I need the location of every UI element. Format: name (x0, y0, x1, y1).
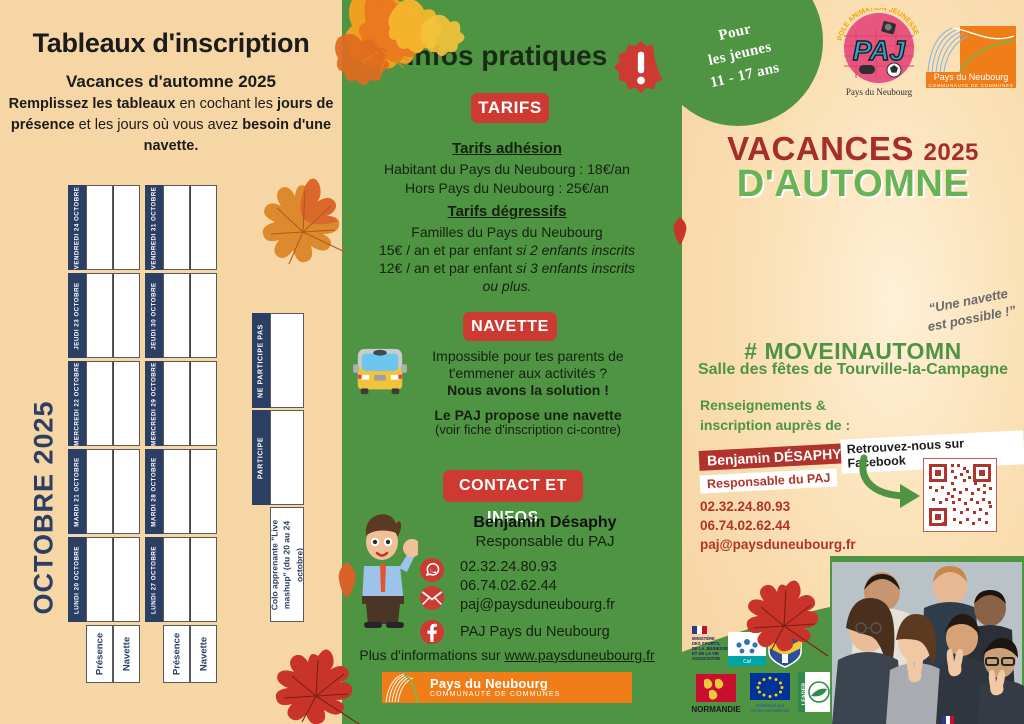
tarifs-line2-prefix: 15€ / an et par enfant (379, 242, 516, 258)
presence-checkbox-cell[interactable] (163, 449, 190, 534)
day-header-label: MERCREDI 29 OCTOBRE (151, 362, 158, 446)
presence-checkbox-cell[interactable] (86, 361, 113, 446)
right-contact-phone1: 02.32.24.80.93 (700, 497, 856, 516)
navette-line5: (voir fiche d'inscription ci-contre) (390, 422, 666, 437)
left-instruction: Remplissez les tableaux en cochant les j… (8, 94, 334, 157)
pdn-swoosh-icon (382, 672, 422, 703)
tarifs-degressifs-line3: 12€ / an et par enfant si 3 enfants insc… (342, 259, 672, 278)
navette-checkbox-cell[interactable] (113, 537, 140, 622)
colo-footer-label: Colo apprenante "Live mashup" (du 20 au … (270, 509, 304, 621)
registration-info-line2: inscription auprès de : (700, 415, 900, 435)
presence-checkbox-cell[interactable] (163, 185, 190, 270)
day-header-label: MARDI 21 OCTOBRE (74, 457, 81, 526)
inscription-table-week2[interactable]: VENDREDI 31 OCTOBREJEUDI 30 OCTOBREMERCR… (145, 185, 217, 683)
table-row[interactable]: JEUDI 23 OCTOBRE (68, 273, 140, 358)
tarifs-degressifs-line1: Familles du Pays du Neubourg (342, 223, 672, 242)
headline-year: 2025 (924, 139, 979, 166)
navette-checkbox-cell[interactable] (190, 537, 217, 622)
departement-eure-logo (768, 628, 802, 668)
day-header-label: VENDREDI 31 OCTOBRE (151, 186, 158, 269)
presence-checkbox-cell[interactable] (163, 273, 190, 358)
day-header: MERCREDI 29 OCTOBRE (145, 361, 163, 446)
contact-facebook: PAJ Pays du Neubourg (460, 624, 610, 640)
caf-eure-logo: Caf (728, 632, 766, 666)
right-contact-email: paj@paysduneubourg.fr (700, 535, 856, 554)
pays-du-neubourg-footer-logo: Pays du Neubourg COMMUNAUTÉ DE COMMUNES (382, 672, 632, 703)
table-row[interactable]: MERCREDI 22 OCTOBRE (68, 361, 140, 446)
day-header: VENDREDI 24 OCTOBRE (68, 185, 86, 270)
poster-canvas: Tableaux d'inscription Vacances d'automn… (0, 0, 1024, 724)
day-header-label: MERCREDI 22 OCTOBRE (74, 362, 81, 446)
pdn-footer-text: Pays du Neubourg COMMUNAUTÉ DE COMMUNES (422, 677, 560, 698)
column-label-text: Présence (171, 633, 182, 675)
navette-line3: Nous avons la solution ! (390, 381, 666, 400)
colo-row-ne-participe-pas[interactable]: NE PARTICIPE PAS (252, 313, 304, 408)
tarifs-adhesion-line1: Habitant du Pays du Neubourg : 18€/an (342, 160, 672, 179)
colo-header-ne-participe-pas: NE PARTICIPE PAS (252, 313, 270, 408)
tarifs-adhesion-line2: Hors Pays du Neubourg : 25€/an (342, 179, 672, 198)
paj-logo-sub: Pays du Neubourg (846, 87, 913, 97)
paj-logo: PAJ POLE ANIMATION JEUNESSE Pays du Neub… (826, 8, 932, 100)
svg-text:Caf: Caf (743, 659, 751, 665)
contact-email: paj@paysduneubourg.fr (460, 597, 615, 613)
contact-badge: CONTACT ET INFOS (443, 470, 583, 502)
tarifs-line2-italic: si 2 enfants inscrits (516, 242, 635, 258)
contact-role: Responsable du PAJ (420, 533, 670, 550)
day-header-label: MARDI 28 OCTOBRE (151, 457, 158, 526)
tarifs-line3-prefix: 12€ / an et par enfant (379, 260, 516, 276)
table-row[interactable]: MERCREDI 29 OCTOBRE (145, 361, 217, 446)
paj-logo-main: PAJ (853, 35, 907, 66)
more-info-url[interactable]: www.paysduneubourg.fr (504, 647, 654, 663)
page-title: Tableaux d'inscription (0, 28, 342, 59)
day-header: VENDREDI 31 OCTOBRE (145, 185, 163, 270)
navette-checkbox-cell[interactable] (113, 361, 140, 446)
pdn-footer-line1: Pays du Neubourg (430, 677, 560, 691)
person-waving-icon (352, 500, 418, 628)
pdn-header-line2: COMMUNAUTÉ DE COMMUNES (928, 82, 1013, 88)
tarifs-adhesion-title: Tarifs adhésion (342, 140, 672, 157)
table-row[interactable]: VENDREDI 24 OCTOBRE (68, 185, 140, 270)
colo-row-participe[interactable]: PARTICIPE (252, 410, 304, 505)
navette-checkbox-cell[interactable] (190, 273, 217, 358)
presence-checkbox-cell[interactable] (86, 449, 113, 534)
left-subtitle: Vacances d'automne 2025 (0, 72, 342, 92)
tarifs-degressifs-line2: 15€ / an et par enfant si 2 enfants insc… (342, 241, 672, 260)
navette-checkbox-cell[interactable] (190, 185, 217, 270)
envelope-icon[interactable] (420, 586, 444, 610)
right-contact-block: 02.32.24.80.93 06.74.02.62.44 paj@paysdu… (700, 497, 856, 554)
navette-badge: NAVETTE (463, 312, 557, 341)
table-row[interactable]: JEUDI 30 OCTOBRE (145, 273, 217, 358)
table-footer-row: PrésenceNavette (86, 625, 140, 683)
column-label-text: Présence (94, 633, 105, 675)
table-row[interactable]: LUNDI 20 OCTOBRE (68, 537, 140, 622)
presence-checkbox-cell[interactable] (86, 537, 113, 622)
column-label-présence: Présence (86, 625, 113, 683)
colo-footer: Colo apprenante "Live mashup" (du 20 au … (270, 507, 304, 622)
group-of-teenagers-photo (830, 556, 1024, 724)
tarifs-degressifs-line4: ou plus. (342, 277, 672, 296)
day-header: MARDI 28 OCTOBRE (145, 449, 163, 534)
event-venue: Salle des fêtes de Tourville-la-Campagne (682, 361, 1024, 379)
facebook-icon[interactable] (420, 620, 444, 644)
right-contact-phone2: 06.74.02.62.44 (700, 516, 856, 535)
presence-checkbox-cell[interactable] (163, 537, 190, 622)
contact-phone-2: 06.74.02.62.44 (460, 578, 557, 594)
day-header: JEUDI 30 OCTOBRE (145, 273, 163, 358)
registration-info-line1: Renseignements & (700, 395, 900, 415)
day-header: MARDI 21 OCTOBRE (68, 449, 86, 534)
more-info-line: Plus d'informations sur www.paysduneubou… (342, 647, 672, 663)
colo-header-ne-participe-pas-label: NE PARTICIPE PAS (258, 324, 265, 398)
navette-checkbox-cell[interactable] (113, 449, 140, 534)
qr-code[interactable] (923, 458, 997, 532)
contact-name: Benjamin Désaphy (420, 514, 670, 532)
day-header: LUNDI 27 OCTOBRE (145, 537, 163, 622)
column-label-text: Navette (121, 637, 132, 671)
tarifs-badge: TARIFS (471, 93, 549, 123)
table-row[interactable]: MARDI 21 OCTOBRE (68, 449, 140, 534)
navette-checkbox-cell[interactable] (190, 449, 217, 534)
column-label-text: Navette (198, 637, 209, 671)
leader-logo: LEADER (798, 672, 832, 712)
navette-checkbox-cell[interactable] (113, 273, 140, 358)
day-header-label: LUNDI 27 OCTOBRE (151, 545, 158, 613)
navette-checkbox-cell[interactable] (113, 185, 140, 270)
ministere-sports-jeunesse-logo: MINISTÈRE DES SPORTS, DE LA JEUNESSE ET … (692, 626, 732, 662)
day-header-label: JEUDI 30 OCTOBRE (151, 282, 158, 349)
svg-text:ASSOCIATIVE: ASSOCIATIVE (692, 656, 720, 661)
curved-arrow-icon (858, 452, 926, 514)
contact-phone-1: 02.32.24.80.93 (460, 559, 557, 575)
registration-info: Renseignements & inscription auprès de : (700, 395, 900, 436)
pays-du-neubourg-logo-header: Pays du Neubourg COMMUNAUTÉ DE COMMUNES (926, 26, 1016, 88)
inscription-table-week1[interactable]: VENDREDI 24 OCTOBREJEUDI 23 OCTOBREMERCR… (68, 185, 140, 683)
column-label-navette: Navette (113, 625, 140, 683)
column-label-présence: Présence (163, 625, 190, 683)
headline-vacances-word: VACANCES (727, 130, 914, 167)
table-footer-row: PrésenceNavette (163, 625, 217, 683)
navette-checkbox-cell[interactable] (190, 361, 217, 446)
table-row[interactable]: LUNDI 27 OCTOBRE (145, 537, 217, 622)
column-label-navette: Navette (190, 625, 217, 683)
svg-text:l'Union européenne: l'Union européenne (750, 708, 790, 713)
union-europeenne-logo: Cofinancé par l'Union européenne (748, 672, 792, 714)
colo-header-participe: PARTICIPE (252, 410, 270, 505)
day-header: LUNDI 20 OCTOBRE (68, 537, 86, 622)
region-normandie-logo: NORMANDIE (690, 672, 742, 716)
pdn-footer-line2: COMMUNAUTÉ DE COMMUNES (430, 691, 560, 698)
day-header-label: VENDREDI 24 OCTOBRE (74, 186, 81, 269)
day-header: MERCREDI 22 OCTOBRE (68, 361, 86, 446)
presence-checkbox-cell[interactable] (163, 361, 190, 446)
table-row[interactable]: VENDREDI 31 OCTOBRE (145, 185, 217, 270)
svg-text:LEADER: LEADER (802, 683, 808, 705)
presence-checkbox-cell[interactable] (86, 185, 113, 270)
presence-checkbox-cell[interactable] (86, 273, 113, 358)
more-info-prefix: Plus d'informations sur (359, 647, 504, 663)
day-header-label: LUNDI 20 OCTOBRE (74, 545, 81, 613)
month-label: OCTOBRE 2025 (29, 378, 60, 638)
day-header: JEUDI 23 OCTOBRE (68, 273, 86, 358)
colo-apprenante-table[interactable]: NE PARTICIPE PAS PARTICIPE Colo apprenan… (252, 313, 304, 622)
colo-header-participe-label: PARTICIPE (258, 436, 265, 478)
day-header-label: JEUDI 23 OCTOBRE (74, 282, 81, 349)
tarifs-degressifs-title: Tarifs dégressifs (342, 203, 672, 220)
whatsapp-icon[interactable] (420, 558, 444, 582)
svg-text:NORMANDIE: NORMANDIE (691, 705, 741, 714)
headline-automne: D'AUTOMNE (682, 163, 1024, 206)
colo-checkbox-participe[interactable] (270, 410, 304, 505)
tarifs-line3-italic: si 3 enfants inscrits (516, 260, 635, 276)
table-row[interactable]: MARDI 28 OCTOBRE (145, 449, 217, 534)
pdn-header-line1: Pays du Neubourg (934, 72, 1009, 82)
colo-checkbox-ne-participe-pas[interactable] (270, 313, 304, 408)
